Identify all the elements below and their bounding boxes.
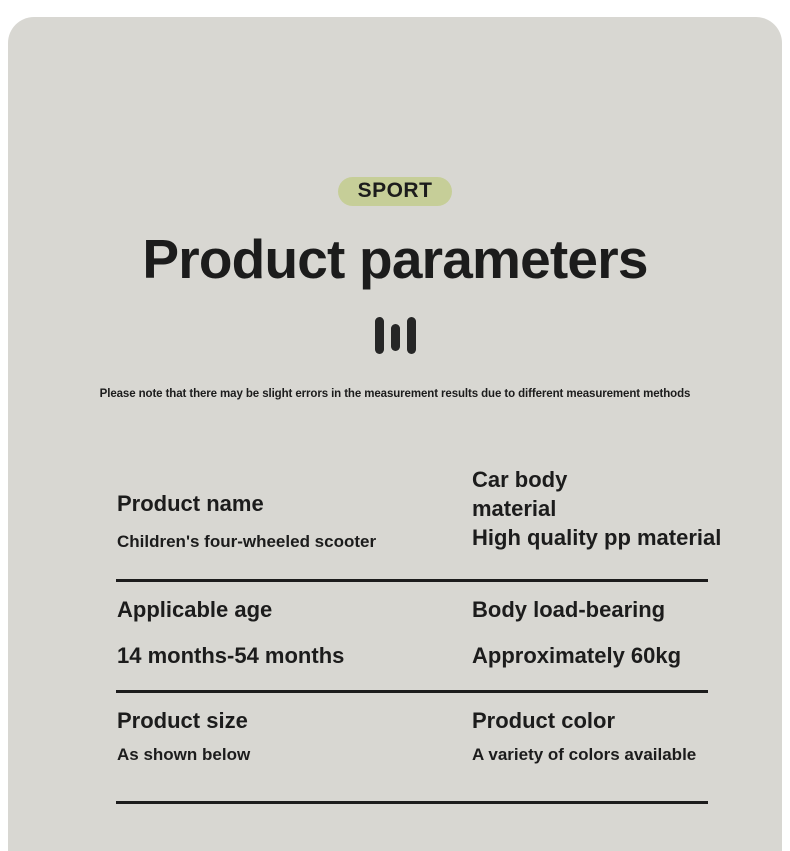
spec-cell-applicable-age: Applicable age 14 months-54 months	[108, 596, 472, 690]
spec-label: Car body material	[472, 466, 708, 523]
badge-row: SPORT	[8, 177, 782, 206]
ornament-bar-left	[375, 317, 384, 354]
spec-cell-product-name: Product name Children's four-wheeled sco…	[108, 457, 472, 579]
ornament-bars-icon	[8, 317, 782, 357]
spec-value: High quality pp material	[472, 523, 708, 553]
spec-label: Product size	[117, 707, 472, 736]
table-row: Product name Children's four-wheeled sco…	[108, 457, 708, 579]
spec-cell-product-color: Product color A variety of colors availa…	[472, 707, 708, 801]
ornament-bar-middle	[391, 324, 400, 351]
spec-value: Children's four-wheeled scooter	[117, 531, 472, 554]
sport-badge: SPORT	[338, 177, 453, 206]
spec-label: Product name	[117, 490, 472, 519]
spec-label: Applicable age	[117, 596, 472, 625]
row-divider	[116, 801, 708, 804]
page-title: Product parameters	[8, 231, 782, 289]
measurement-note: Please note that there may be slight err…	[8, 388, 782, 400]
ornament-bar-right	[407, 317, 416, 354]
spec-cell-body-load-bearing: Body load-bearing Approximately 60kg	[472, 596, 708, 690]
spec-cell-product-size: Product size As shown below	[108, 707, 472, 801]
spec-cell-car-body-material: Car body material High quality pp materi…	[472, 457, 708, 579]
spec-label: Body load-bearing	[472, 596, 708, 625]
table-row: Product size As shown below Product colo…	[108, 693, 708, 801]
spec-value: As shown below	[117, 744, 472, 767]
product-parameters-card: SPORT Product parameters Please note tha…	[8, 17, 782, 851]
spec-value: 14 months-54 months	[117, 641, 472, 671]
spec-label: Product color	[472, 707, 708, 736]
spec-value: Approximately 60kg	[472, 641, 708, 671]
spec-value: A variety of colors available	[472, 744, 708, 767]
spec-table: Product name Children's four-wheeled sco…	[108, 457, 708, 804]
table-row: Applicable age 14 months-54 months Body …	[108, 582, 708, 690]
